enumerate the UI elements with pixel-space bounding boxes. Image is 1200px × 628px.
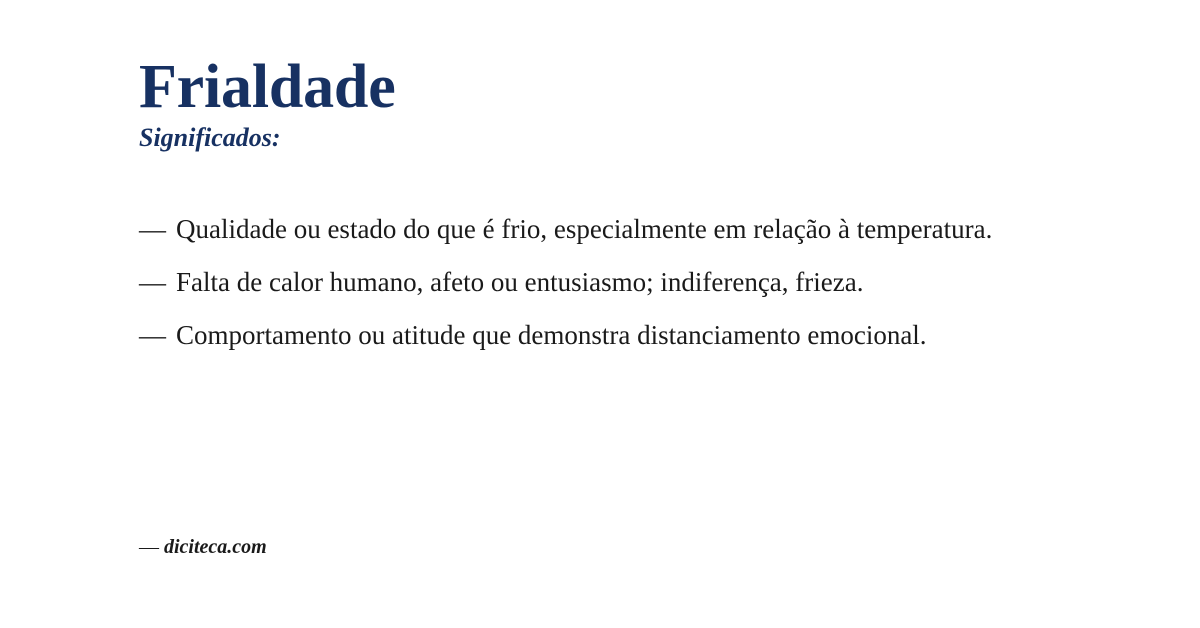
source-name: diciteca.com: [164, 536, 267, 558]
definition-item: —Comportamento ou atitude que demonstra …: [139, 318, 1044, 353]
em-dash-marker: —: [139, 267, 166, 297]
header-block: Frialdade Significados:: [139, 54, 1079, 153]
definition-item: —Qualidade ou estado do que é frio, espe…: [139, 212, 1044, 247]
source-attribution: —diciteca.com: [139, 534, 267, 560]
definition-text: Comportamento ou atitude que demonstra d…: [176, 320, 927, 350]
footer-dash: —: [139, 536, 159, 558]
definition-card: Frialdade Significados: —Qualidade ou es…: [0, 0, 1200, 628]
definitions-list: —Qualidade ou estado do que é frio, espe…: [139, 212, 1044, 353]
em-dash-marker: —: [139, 320, 166, 350]
subtitle-significados: Significados:: [139, 120, 1079, 153]
page-title: Frialdade: [139, 54, 1079, 120]
definition-text: Qualidade ou estado do que é frio, espec…: [176, 214, 992, 244]
definition-item: —Falta de calor humano, afeto ou entusia…: [139, 265, 1044, 300]
em-dash-marker: —: [139, 214, 166, 244]
definition-text: Falta de calor humano, afeto ou entusias…: [176, 267, 863, 297]
